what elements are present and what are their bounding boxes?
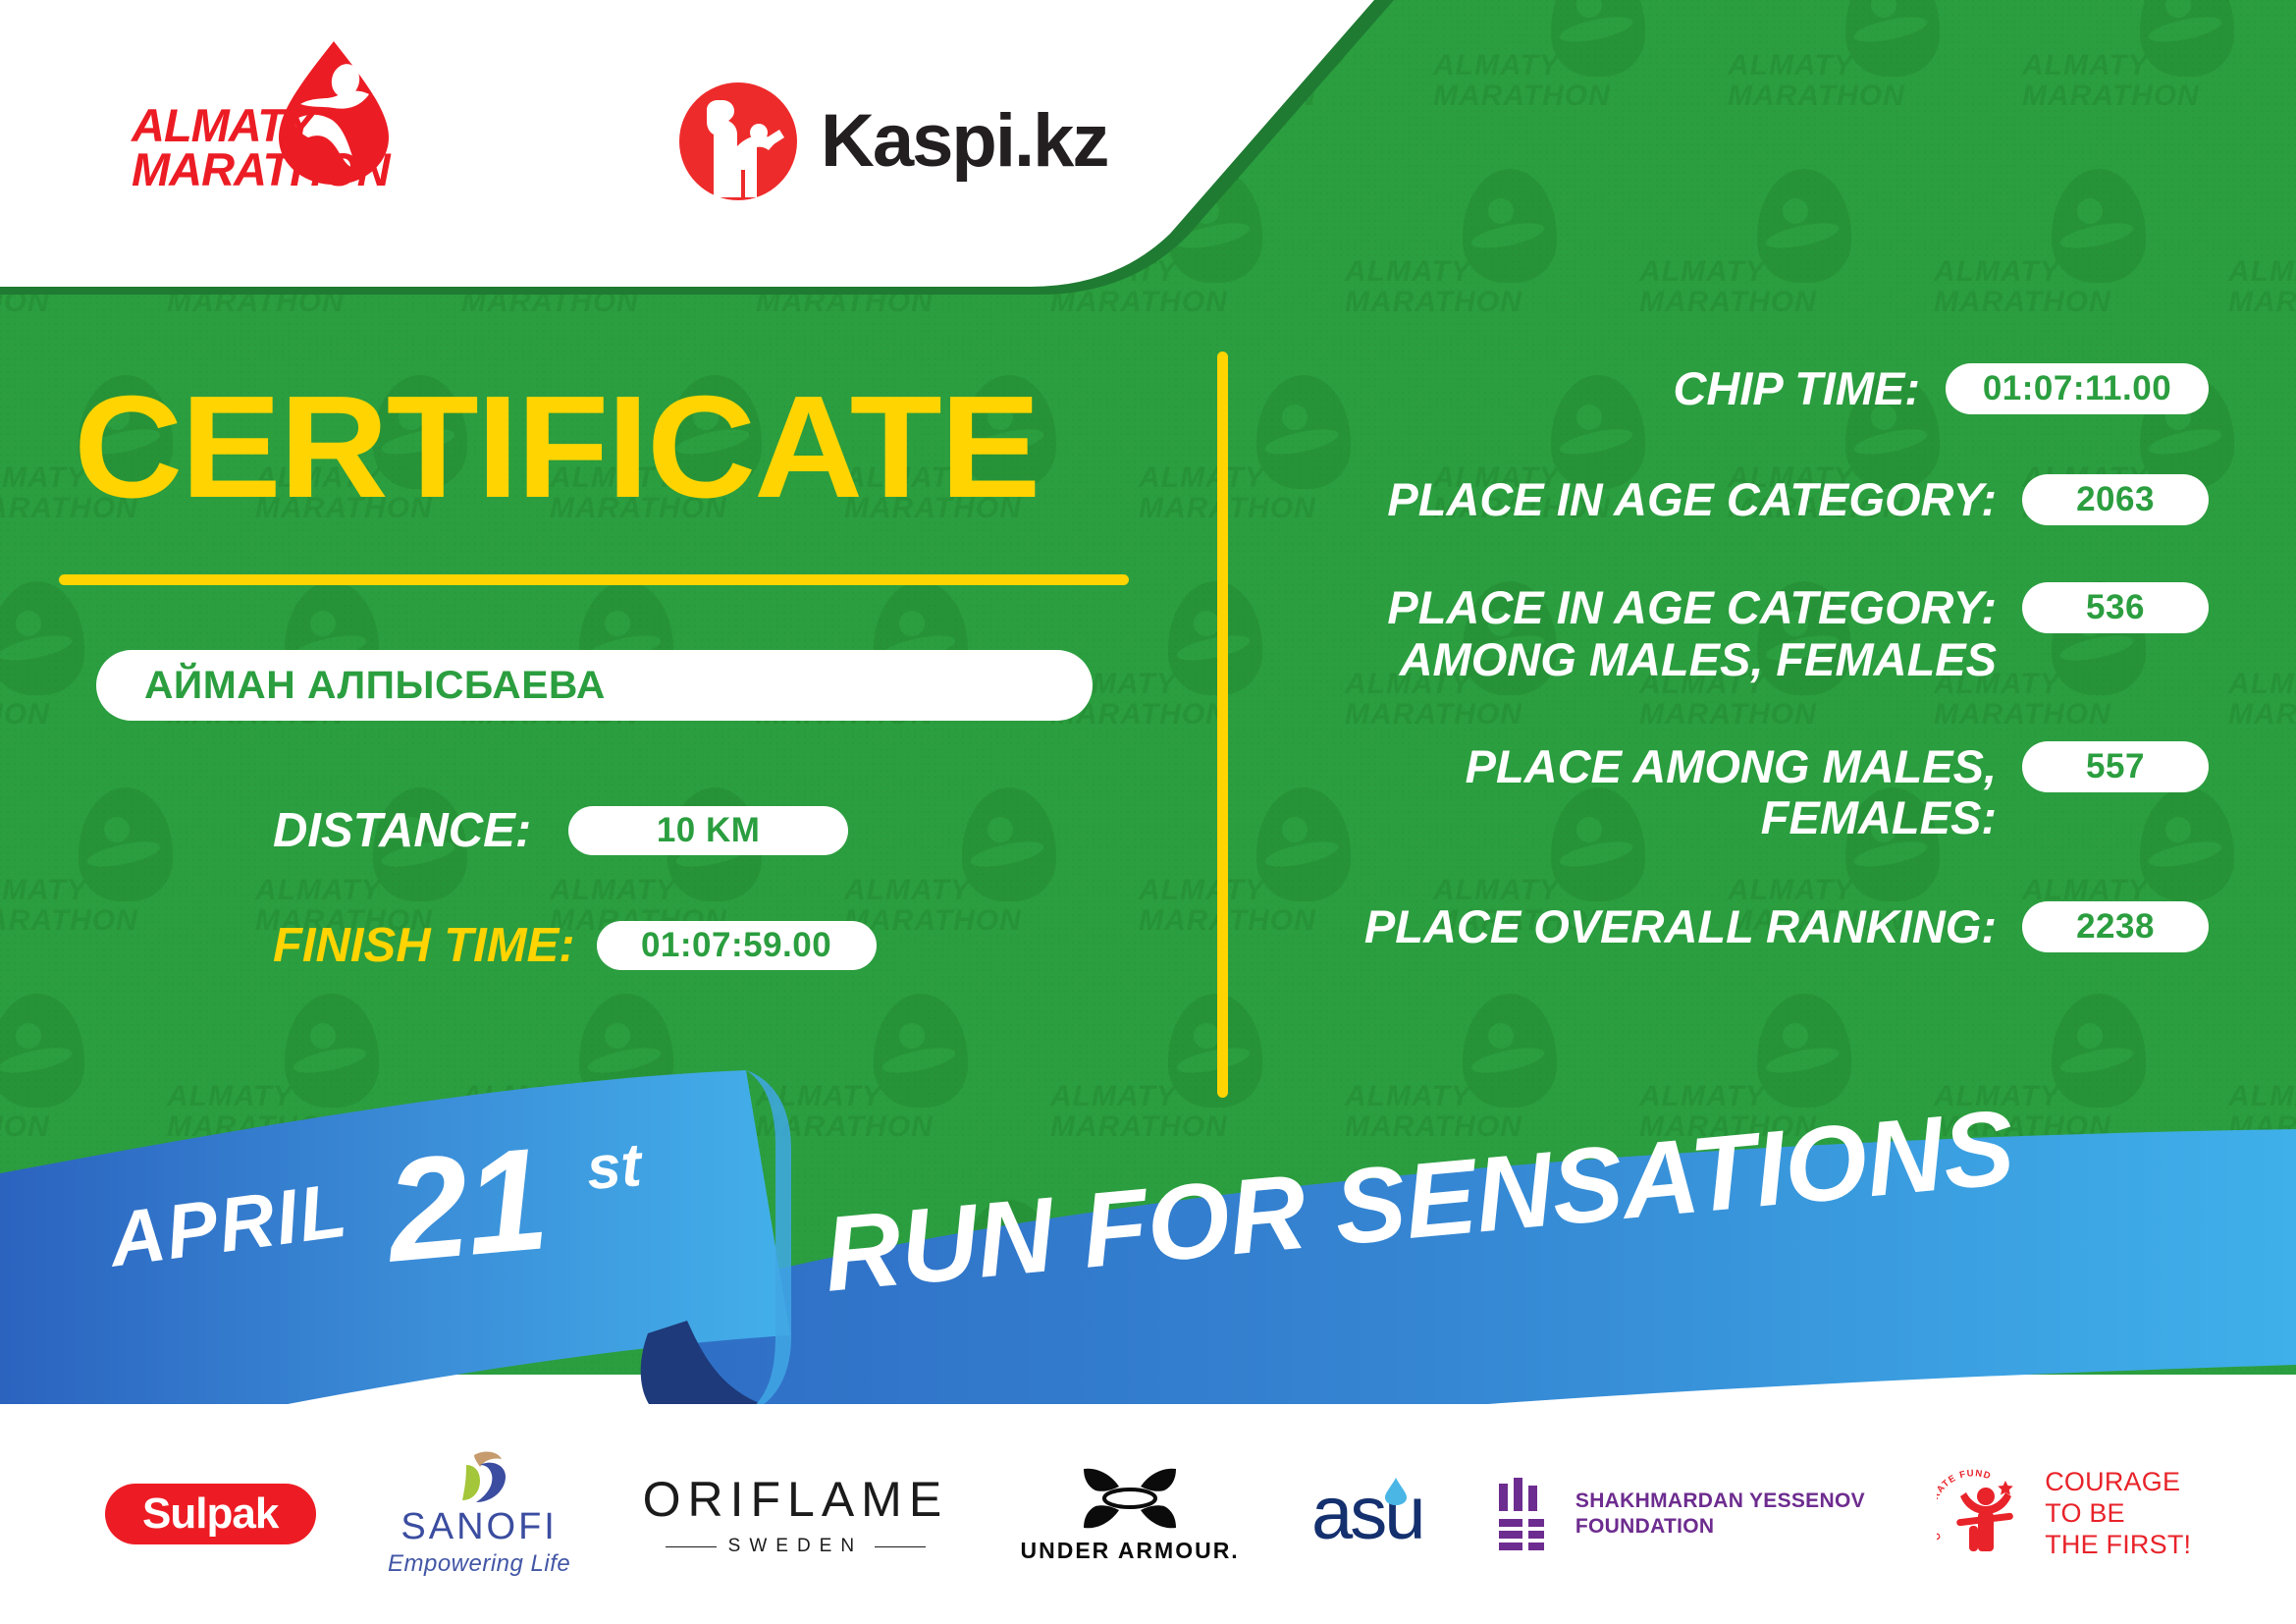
asu-droplet-icon [1382, 1477, 1408, 1506]
watermark-line-2: MARATHON [1728, 81, 1953, 112]
watermark-line-2: MARATHON [2228, 700, 2296, 731]
watermark-tile: ALMATYMARATHON [2228, 579, 2296, 785]
watermark-line-1: ALMATY [1639, 257, 1865, 288]
stat-label-line: PLACE IN AGE CATEGORY: [1387, 582, 1997, 634]
watermark-line-2: MARATHON [2022, 81, 2248, 112]
stat-label-line: CHIP TIME: [1673, 363, 1920, 415]
distance-label: DISTANCE: [273, 803, 531, 858]
watermark-text: ALMATYMARATHON [2228, 257, 2296, 317]
watermark-line-2: MARATHON [1433, 81, 1659, 112]
watermark-droplet-icon [2140, 0, 2234, 77]
stat-label-line: PLACE IN AGE CATEGORY: [1387, 474, 1997, 526]
finish-time-row: FINISH TIME: 01:07:59.00 [273, 918, 877, 973]
sponsor-yessenov-foundation: SHAKHMARDAN YESSENOV FOUNDATION [1495, 1478, 1865, 1550]
finish-time-label: FINISH TIME: [273, 918, 575, 973]
watermark-line-1: ALMATY [1433, 51, 1659, 81]
watermark-droplet-icon [2052, 169, 2146, 283]
almaty-marathon-wordmark: ALMATY MARATHON [132, 103, 390, 191]
participant-name-value: АЙМАН АЛПЫСБАЕВА [96, 664, 606, 708]
almaty-line: ALMATY [132, 103, 390, 147]
watermark-line-2: MARATHON [1639, 288, 1865, 318]
sponsor-sanofi-tagline: Empowering Life [388, 1550, 570, 1578]
sponsor-sulpak-label: Sulpak [142, 1489, 278, 1539]
kaspi-wordmark: Kaspi.kz [821, 104, 1107, 179]
courage-line-1: COURAGE [2045, 1467, 2191, 1498]
watermark-tile: ALMATYMARATHON [2228, 167, 2296, 373]
courage-line-3: THE FIRST! [2045, 1530, 2191, 1561]
courage-line-2: TO BE [2045, 1498, 2191, 1530]
stat-place-overall-ranking: PLACE OVERALL RANKING: 2238 [1276, 901, 2209, 953]
sponsor-courage-to-be-the-first: CORPORATE FUND COURAGE TO BE THE FIRST! [1937, 1467, 2191, 1561]
oriflame-rule-left [666, 1546, 717, 1547]
watermark-tile: ALMATYMARATHON [1433, 0, 1728, 167]
courage-fund-runner-icon: CORPORATE FUND [1937, 1467, 2031, 1561]
stat-chip-time-label: CHIP TIME: [1673, 363, 1920, 415]
watermark-tile: ALMATYMARATHON [2022, 0, 2296, 167]
finish-time-value: 01:07:59.00 [597, 921, 877, 970]
distance-value: 10 KM [568, 806, 848, 855]
watermark-text: ALMATYMARATHON [1639, 257, 1865, 317]
stat-place-age-category: PLACE IN AGE CATEGORY: 2063 [1276, 474, 2209, 526]
stat-place-overall-ranking-label: PLACE OVERALL RANKING: [1364, 901, 1997, 953]
stat-label-line: PLACE AMONG MALES, [1466, 741, 1997, 793]
almaty-marathon-logo: ALMATY MARATHON [110, 54, 434, 191]
watermark-text: ALMATYMARATHON [1934, 257, 2160, 317]
header-logos: ALMATY MARATHON Kaspi.kz [0, 0, 1178, 280]
certificate-title: CERTIFICATE [74, 375, 1039, 520]
watermark-text: ALMATYMARATHON [2022, 51, 2248, 111]
under-armour-logo-icon [1076, 1465, 1184, 1532]
yessenov-line-2: FOUNDATION [1575, 1514, 1865, 1540]
watermark-droplet-icon [1845, 0, 1940, 77]
watermark-droplet-icon [1757, 169, 1851, 283]
certificate-page: ALMATYMARATHONALMATYMARATHONALMATYMARATH… [0, 0, 2296, 1624]
stat-place-age-category-among: PLACE IN AGE CATEGORY: AMONG MALES, FEMA… [1276, 582, 2209, 685]
kaspi-people-circle-icon [677, 81, 799, 202]
stat-place-age-category-among-label: PLACE IN AGE CATEGORY: AMONG MALES, FEMA… [1387, 582, 1997, 685]
watermark-text: ALMATYMARATHON [1433, 51, 1659, 111]
sponsor-oriflame: ORIFLAME SWEDEN [643, 1471, 949, 1557]
sanofi-bird-icon [441, 1451, 517, 1504]
watermark-tile: ALMATYMARATHON [1934, 167, 2228, 373]
stat-place-age-category-among-value: 536 [2022, 582, 2209, 633]
stat-chip-time: CHIP TIME: 01:07:11.00 [1276, 363, 2209, 415]
distance-row: DISTANCE: 10 KM [273, 803, 848, 858]
sponsor-oriflame-label: ORIFLAME [643, 1471, 949, 1528]
sponsor-sulpak: Sulpak [105, 1484, 316, 1544]
sponsor-yessenov-label: SHAKHMARDAN YESSENOV FOUNDATION [1575, 1489, 1865, 1541]
stat-label-line: PLACE OVERALL RANKING: [1364, 901, 1997, 953]
marathon-line: MARATHON [132, 147, 390, 191]
sponsor-sanofi-label: SANOFI [400, 1506, 557, 1548]
yessenov-foundation-icon [1495, 1478, 1556, 1550]
stat-place-overall-ranking-value: 2238 [2022, 901, 2209, 952]
sponsor-sanofi: SANOFI Empowering Life [388, 1451, 570, 1578]
column-divider [1217, 352, 1228, 1098]
watermark-droplet-icon [1551, 0, 1645, 77]
sponsor-under-armour: UNDER ARMOUR. [1021, 1465, 1240, 1564]
watermark-droplet-icon [1463, 169, 1557, 283]
watermark-tile: ALMATYMARATHON [1728, 0, 2022, 167]
kaspi-logo: Kaspi.kz [677, 81, 1107, 202]
stat-label-line: AMONG MALES, FEMALES [1387, 634, 1997, 686]
watermark-tile: ALMATYMARATHON [1639, 167, 1934, 373]
sponsor-under-armour-label: UNDER ARMOUR. [1021, 1538, 1240, 1564]
oriflame-rule-right [875, 1546, 926, 1547]
sponsor-oriflame-sub: SWEDEN [728, 1536, 863, 1557]
stat-place-age-category-value: 2063 [2022, 474, 2209, 525]
watermark-line-1: ALMATY [1728, 51, 1953, 81]
participant-name-field: АЙМАН АЛПЫСБАЕВА [96, 650, 1093, 721]
watermark-text: ALMATYMARATHON [1728, 51, 1953, 111]
watermark-line-1: ALMATY [2228, 670, 2296, 700]
sponsor-courage-label: COURAGE TO BE THE FIRST! [2045, 1467, 2191, 1561]
watermark-line-1: ALMATY [2228, 257, 2296, 288]
watermark-line-1: ALMATY [1934, 257, 2160, 288]
stat-place-age-category-label: PLACE IN AGE CATEGORY: [1387, 474, 1997, 526]
stat-place-among-males-females: PLACE AMONG MALES, FEMALES: 557 [1276, 741, 2209, 844]
stat-place-among-males-females-value: 557 [2022, 741, 2209, 792]
yessenov-line-1: SHAKHMARDAN YESSENOV [1575, 1489, 1865, 1514]
certificate-stats-column: CHIP TIME: 01:07:11.00 PLACE IN AGE CATE… [1276, 363, 2209, 952]
sponsor-oriflame-sub-row: SWEDEN [643, 1536, 949, 1557]
sponsor-bar: Sulpak SANOFI Empowering Life ORIFLAME S… [0, 1404, 2296, 1624]
watermark-line-2: MARATHON [2228, 288, 2296, 318]
watermark-line-1: ALMATY [2022, 51, 2248, 81]
stat-place-among-males-females-label: PLACE AMONG MALES, FEMALES: [1466, 741, 1997, 844]
stat-label-line: FEMALES: [1466, 792, 1997, 844]
sponsor-asu: asu [1311, 1481, 1423, 1547]
watermark-text: ALMATYMARATHON [2228, 670, 2296, 730]
stat-chip-time-value: 01:07:11.00 [1946, 363, 2209, 414]
watermark-line-2: MARATHON [1934, 288, 2160, 318]
title-divider-rule [59, 574, 1129, 585]
